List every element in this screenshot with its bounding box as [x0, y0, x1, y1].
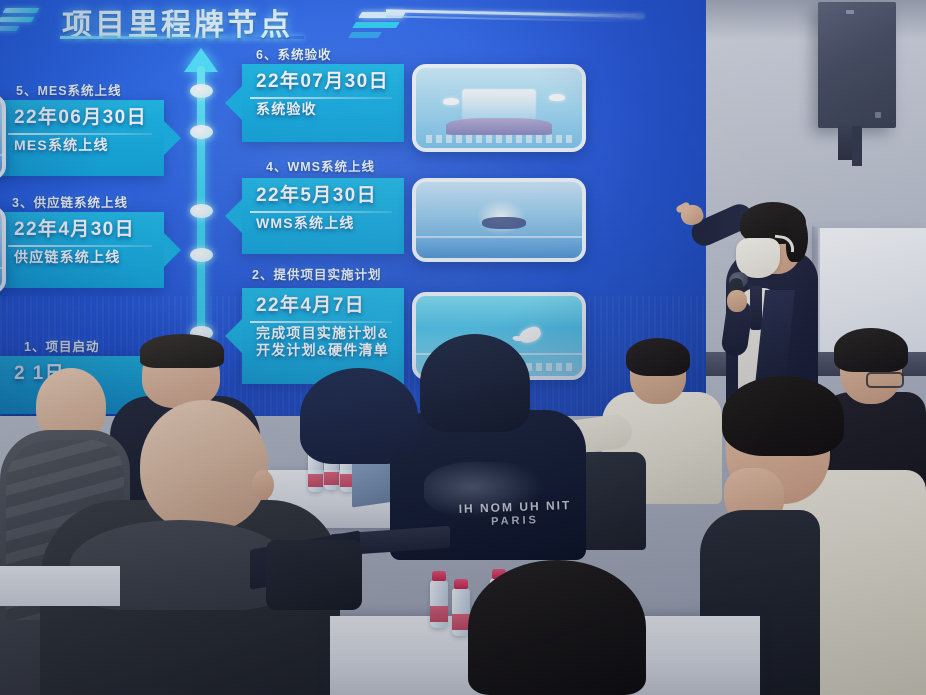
milestone-date-2: 22年4月7日	[242, 292, 418, 320]
milestone-desc-4: WMS系统上线	[242, 215, 418, 232]
milestone-card-5[interactable]: 22年06月30日 MES系统上线	[0, 100, 164, 176]
bottle-cap-icon	[454, 579, 468, 589]
presenter-tie	[750, 286, 762, 330]
milestone-thumbnail-5[interactable]	[0, 94, 6, 180]
wall-speaker	[818, 2, 896, 128]
water-bottle	[430, 580, 448, 628]
card-divider	[250, 321, 392, 323]
speaker-led-icon	[846, 10, 854, 14]
bird-icon	[443, 98, 459, 105]
milestone-thumbnail-4[interactable]	[412, 178, 586, 262]
attendee-hair	[140, 334, 224, 368]
title-underline	[60, 36, 304, 39]
left-table	[0, 566, 120, 606]
chair-back-secondary	[266, 540, 362, 610]
milestone-date-5: 22年06月30日	[0, 104, 178, 132]
timeline-node	[190, 125, 213, 139]
card-divider	[250, 97, 392, 99]
bottle-label	[308, 474, 323, 487]
speaker-bracket-post	[852, 126, 862, 166]
milestone-label-5: 5、MES系统上线	[16, 80, 122, 99]
milestone-desc-6: 系统验收	[242, 101, 418, 118]
presenter-mic-hand	[727, 290, 747, 312]
eyeglasses-icon	[866, 372, 904, 388]
milestone-thumbnail-3[interactable]	[0, 206, 6, 294]
card-divider	[250, 211, 392, 213]
attendee-white-shirt-hair	[626, 338, 690, 376]
bottle-label	[430, 606, 448, 622]
milestone-label-1: 1、项目启动	[24, 336, 99, 355]
milestone-label-4: 4、WMS系统上线	[266, 156, 375, 175]
milestone-desc-3: 供应链系统上线	[0, 249, 178, 266]
attendee-paris-jacket-hair	[420, 334, 530, 432]
attendee-foreground-ear	[252, 470, 274, 500]
milestone-card-6[interactable]: 22年07月30日 系统验收	[242, 64, 404, 142]
milestone-label-2: 2、提供项目实施计划	[252, 264, 381, 283]
milestone-card-3[interactable]: 22年4月30日 供应链系统上线	[0, 212, 164, 288]
dolphin-icon	[517, 325, 542, 345]
milestone-desc-2: 完成项目实施计划&开发计划&硬件清单	[242, 325, 404, 359]
attendee-foreground-center-head	[468, 560, 646, 695]
milestone-card-2[interactable]: 22年4月7日 完成项目实施计划&开发计划&硬件清单	[242, 288, 404, 384]
milestone-label-3: 3、供应链系统上线	[12, 192, 128, 211]
water-shape	[416, 238, 582, 258]
motorcycle-shape	[482, 217, 525, 229]
rock-shape	[446, 118, 552, 136]
milestone-date-6: 22年07月30日	[242, 68, 418, 96]
bottle-cap-icon	[432, 571, 446, 581]
milestone-desc-5: MES系统上线	[0, 137, 178, 154]
conference-room-photo: 项目里程牌节点 6、系统验收 22年07月30日 系统验收	[0, 0, 926, 695]
horizon-line	[0, 154, 2, 156]
card-notch-icon	[225, 199, 242, 233]
milestone-date-4: 22年5月30日	[242, 182, 418, 210]
milestone-card-4[interactable]: 22年5月30日 WMS系统上线	[242, 178, 404, 254]
thumbnail-caption-strip	[426, 135, 572, 143]
card-notch-icon	[225, 86, 242, 120]
attendee-cream-shirt-hair	[722, 376, 844, 456]
timeline-node	[190, 248, 213, 262]
timeline-node	[190, 84, 213, 98]
projection-screen: 项目里程牌节点 6、系统验收 22年07月30日 系统验收	[0, 0, 706, 416]
attendee-glasses-hair	[834, 328, 908, 372]
card-divider	[8, 133, 152, 135]
attendee-dark-cap	[300, 368, 418, 464]
attendee-foreground-head	[140, 400, 268, 532]
milestone-label-6: 6、系统验收	[256, 44, 331, 63]
card-notch-icon	[225, 319, 242, 353]
card-divider	[8, 245, 152, 247]
bottle-label	[324, 472, 339, 485]
slash-decoration-left-icon	[0, 6, 40, 34]
speaker-screw-icon	[875, 112, 881, 118]
horizon-line	[0, 267, 2, 269]
bird-icon	[549, 94, 565, 101]
timeline-node	[190, 204, 213, 218]
milestone-date-3: 22年4月30日	[0, 216, 178, 244]
milestone-thumbnail-6[interactable]	[412, 64, 586, 152]
